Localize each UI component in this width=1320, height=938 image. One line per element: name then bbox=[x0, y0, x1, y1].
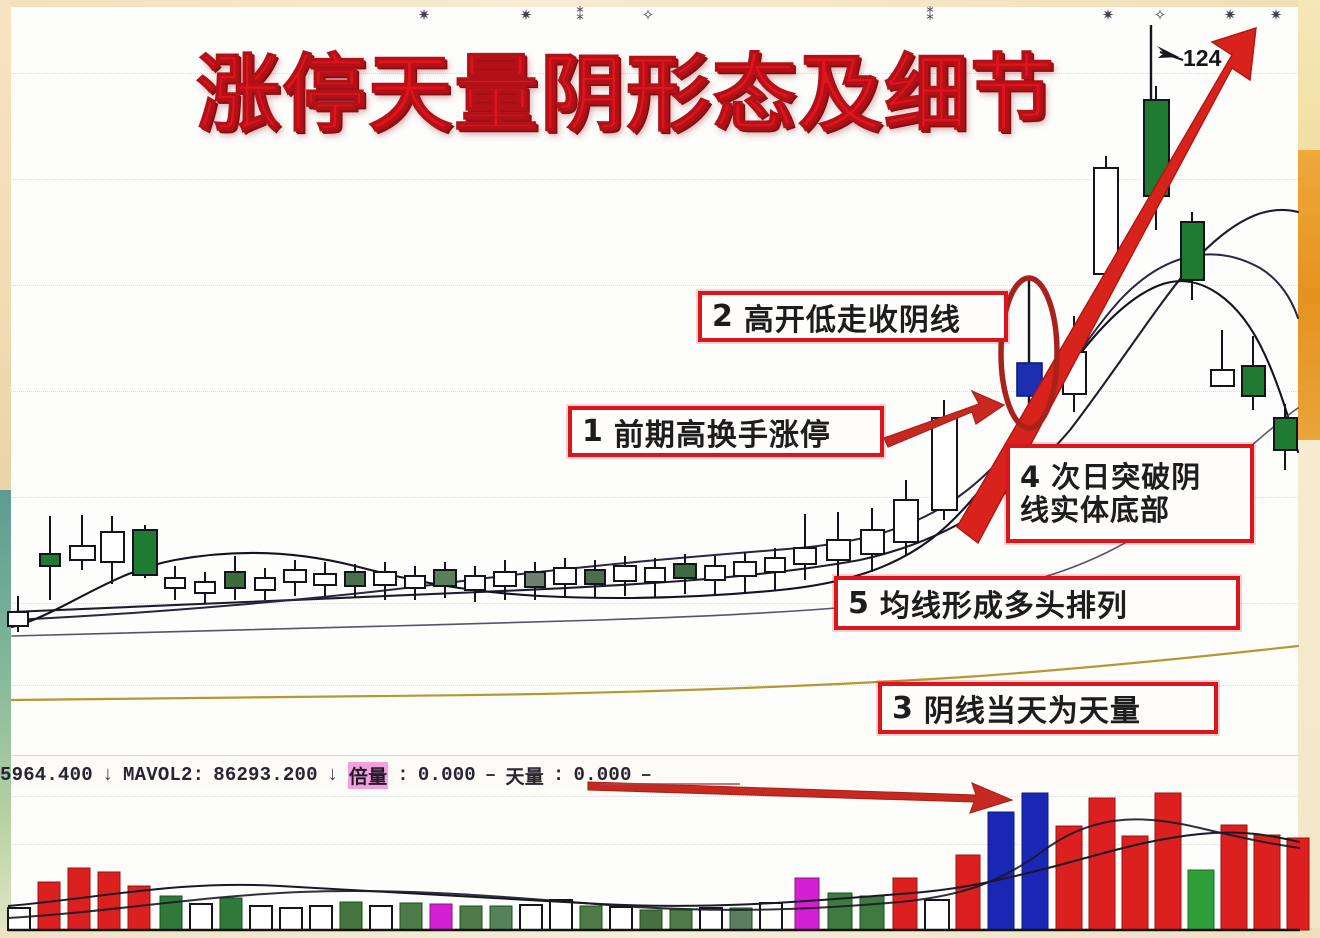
readout-value-3: 0.000 bbox=[418, 764, 476, 786]
callout-2-number: 2 bbox=[712, 299, 734, 334]
sparkle-icon: ✷ bbox=[1222, 6, 1238, 26]
readout-beiliang-label: 倍量 bbox=[348, 762, 388, 789]
readout-underline bbox=[600, 783, 740, 785]
readout-dash-1: – bbox=[485, 764, 497, 786]
readout-mavol2-label: MAVOL2: bbox=[123, 764, 204, 786]
readout-sep-2: : bbox=[553, 764, 565, 786]
callout-4-line-2: 线实体底部 bbox=[1020, 494, 1170, 526]
readout-tianliang-label: 天量 bbox=[506, 762, 544, 789]
callout-2: 2 高开低走收阴线 bbox=[698, 291, 1008, 342]
callout-2-text: 高开低走收阴线 bbox=[744, 295, 961, 339]
page-border-top bbox=[0, 0, 1320, 7]
sparkle-icon: ✷ bbox=[518, 6, 534, 26]
page-border-bottom bbox=[0, 928, 1320, 938]
callout-5-text: 均线形成多头排列 bbox=[880, 581, 1128, 625]
callout-4-line-1: 4次日突破阴 bbox=[1020, 461, 1201, 493]
down-arrow-icon: ↓ bbox=[102, 764, 114, 787]
callout-1-text: 前期高换手涨停 bbox=[614, 410, 831, 454]
readout-value-1: 5964.400 bbox=[0, 764, 93, 786]
readout-sep-1: : bbox=[397, 764, 409, 786]
sparkle-icon: ✷ bbox=[1100, 6, 1116, 26]
volume-chart-pane bbox=[11, 790, 1298, 928]
callout-5-number: 5 bbox=[848, 586, 870, 621]
page-border-left-lower bbox=[0, 490, 11, 938]
gridline bbox=[11, 179, 1298, 180]
indicator-readout: 5964.400 ↓ MAVOL2: 86293.200 ↓ 倍量 : 0.00… bbox=[0, 760, 652, 790]
callout-4-text-1: 次日突破阴 bbox=[1051, 460, 1201, 494]
page-title: 涨停天量阴形态及细节 bbox=[196, 52, 1056, 136]
callout-5: 5 均线形成多头排列 bbox=[834, 576, 1240, 630]
gridline bbox=[11, 796, 1298, 797]
callout-1-number: 1 bbox=[582, 414, 604, 449]
callout-4-number: 4 bbox=[1020, 460, 1041, 494]
page-border-left-upper bbox=[0, 0, 11, 490]
gridline bbox=[11, 844, 1298, 845]
chart-screenshot: ✷ ✷ ⁑ ✧ ⁑ ✷ ✧ ✷ ✷ 124 涨停天量阴形态及细节 5964.40… bbox=[0, 0, 1320, 938]
gridline bbox=[11, 285, 1298, 286]
page-border-right-lower bbox=[1298, 440, 1320, 938]
page-border-right-upper bbox=[1298, 0, 1320, 150]
callout-3-number: 3 bbox=[892, 691, 914, 726]
callout-1: 1 前期高换手涨停 bbox=[568, 406, 884, 457]
callout-3: 3 阴线当天为天量 bbox=[878, 682, 1218, 734]
price-label-124: 124 bbox=[1183, 45, 1221, 72]
gridline bbox=[11, 391, 1298, 392]
sparkle-icon: ✷ bbox=[1268, 6, 1284, 26]
sparkle-icon: ⁑ bbox=[572, 6, 588, 26]
readout-value-2: 86293.200 bbox=[213, 764, 317, 786]
callout-3-text: 阴线当天为天量 bbox=[924, 686, 1141, 730]
callout-4: 4次日突破阴 线实体底部 bbox=[1006, 444, 1254, 543]
down-arrow-icon: ↓ bbox=[327, 764, 339, 787]
sparkle-icon: ✧ bbox=[640, 6, 656, 26]
page-border-right-middle bbox=[1298, 150, 1320, 440]
sparkle-icon: ⁑ bbox=[922, 6, 938, 26]
sparkle-icon: ✷ bbox=[416, 6, 432, 26]
sparkle-icon: ✧ bbox=[1152, 6, 1168, 26]
